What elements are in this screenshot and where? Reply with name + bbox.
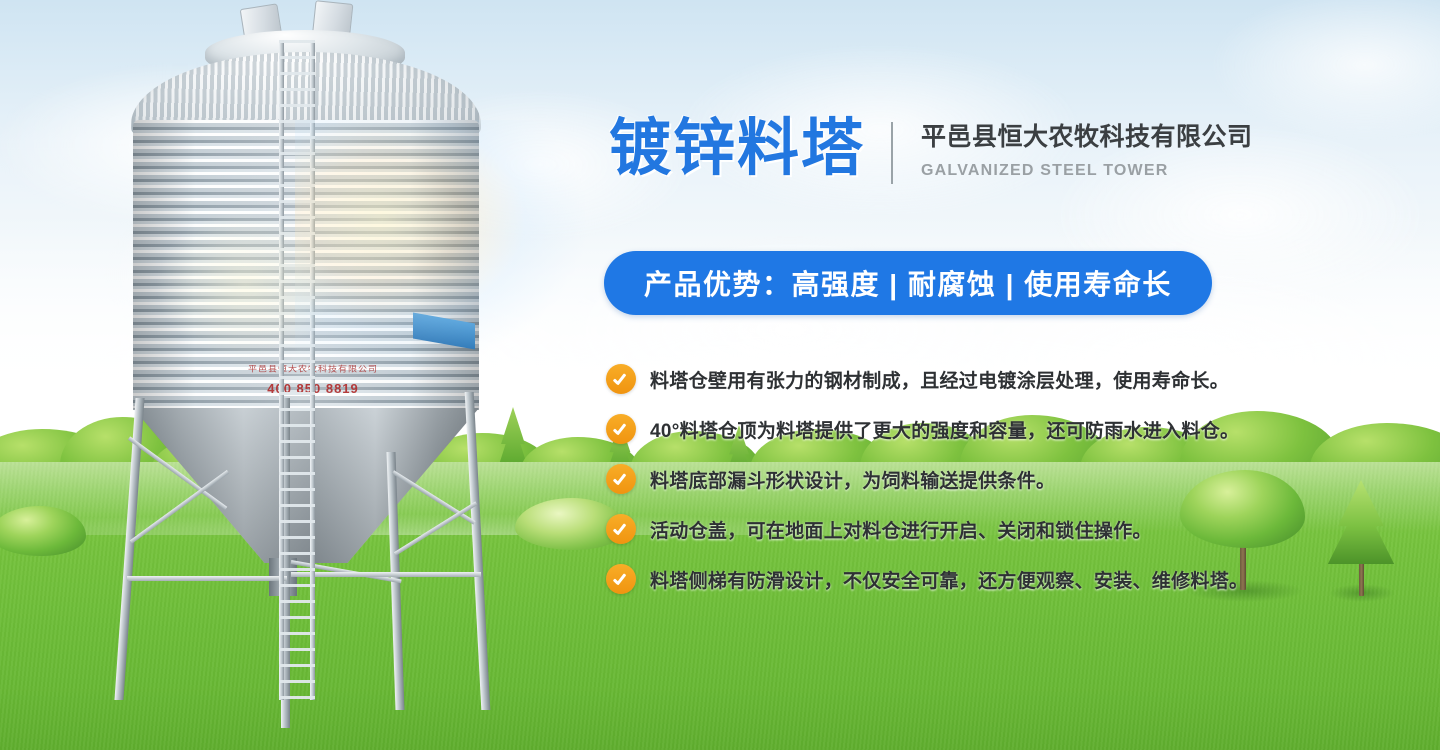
feature-text: 料塔底部漏斗形状设计，为饲料输送提供条件。 xyxy=(650,466,1055,493)
feature-item: 40°料塔仓顶为料塔提供了更大的强度和容量，还可防雨水进入料仓。 xyxy=(606,408,1436,450)
banner-text-panel: 镀锌料塔 平邑县恒大农牧科技有限公司 GALVANIZED STEEL TOWE… xyxy=(600,0,1440,750)
check-circle-icon xyxy=(606,414,636,444)
company-block: 平邑县恒大农牧科技有限公司 GALVANIZED STEEL TOWER xyxy=(921,118,1253,180)
title-row: 镀锌料塔 平邑县恒大农牧科技有限公司 GALVANIZED STEEL TOWE… xyxy=(609,118,1253,184)
check-circle-icon xyxy=(606,564,636,594)
feature-text: 40°料塔仓顶为料塔提供了更大的强度和容量，还可防雨水进入料仓。 xyxy=(650,416,1239,443)
feature-item: 料塔仓壁用有张力的钢材制成，且经过电镀涂层处理，使用寿命长。 xyxy=(606,358,1436,400)
page-title: 镀锌料塔 xyxy=(609,118,865,180)
feature-item: 料塔侧梯有防滑设计，不仅安全可靠，还方便观察、安装、维修料塔。 xyxy=(606,558,1436,600)
check-circle-icon xyxy=(606,514,636,544)
silo-crossbar xyxy=(291,572,481,577)
title-divider xyxy=(891,122,893,184)
silo-brace xyxy=(392,470,476,524)
feature-text: 料塔仓壁用有张力的钢材制成，且经过电镀涂层处理，使用寿命长。 xyxy=(650,366,1229,393)
check-circle-icon xyxy=(606,464,636,494)
check-circle-icon xyxy=(606,364,636,394)
feature-text: 活动仓盖，可在地面上对料仓进行开启、关闭和锁住操作。 xyxy=(650,516,1152,543)
feature-text: 料塔侧梯有防滑设计，不仅安全可靠，还方便观察、安装、维修料塔。 xyxy=(650,566,1248,593)
feature-item: 活动仓盖，可在地面上对料仓进行开启、关闭和锁住操作。 xyxy=(606,508,1436,550)
product-image-silo: 平邑县恒大农牧科技有限公司 400 850 8819 xyxy=(95,0,515,750)
product-advantage-pill: 产品优势：高强度 | 耐腐蚀 | 使用寿命长 xyxy=(604,251,1212,315)
feature-list: 料塔仓壁用有张力的钢材制成，且经过电镀涂层处理，使用寿命长。 40°料塔仓顶为料… xyxy=(606,358,1436,608)
feature-item: 料塔底部漏斗形状设计，为饲料输送提供条件。 xyxy=(606,458,1436,500)
silo-brace xyxy=(130,470,229,544)
silo-side-ladder xyxy=(279,40,315,700)
foreground-shrub xyxy=(0,506,86,564)
company-name-en: GALVANIZED STEEL TOWER xyxy=(921,162,1253,180)
product-advantage-text: 产品优势：高强度 | 耐腐蚀 | 使用寿命长 xyxy=(644,263,1172,303)
silo-brace xyxy=(394,501,478,555)
company-name: 平邑县恒大农牧科技有限公司 xyxy=(921,122,1253,153)
silo-leg xyxy=(465,392,491,710)
silo-crossbar xyxy=(127,576,287,581)
hero-banner: 平邑县恒大农牧科技有限公司 400 850 8819 镀锌料塔 xyxy=(0,0,1440,750)
